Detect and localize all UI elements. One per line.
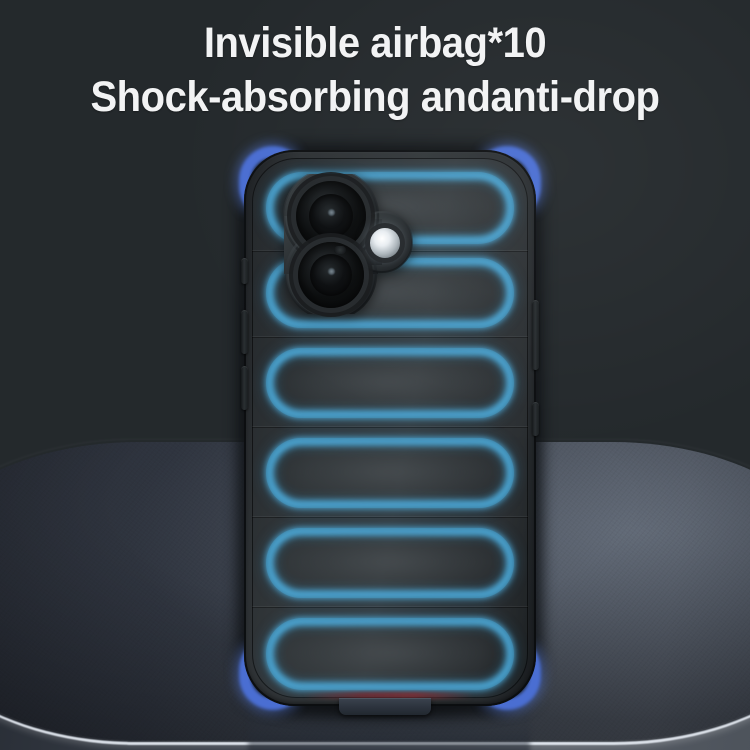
button-left-silent [241, 258, 248, 284]
button-left-volume-down [241, 366, 248, 410]
case-rib-5 [252, 606, 528, 607]
airbag-strip-5 [266, 528, 514, 598]
case-rib-2 [252, 336, 528, 337]
camera-flash [370, 228, 400, 258]
bottom-port-cutout [339, 698, 431, 715]
camera-lens-upper [296, 181, 366, 251]
button-right-camera-control [532, 402, 539, 436]
case-rib-3 [252, 426, 528, 427]
button-left-volume-up [241, 310, 248, 354]
product-image-scene: Invisible airbag*10 Shock-absorbing anda… [0, 0, 750, 750]
camera-microphone [334, 246, 346, 254]
airbag-strip-3 [266, 348, 514, 418]
camera-lens-lower [298, 242, 364, 308]
headline-line-2: Shock-absorbing andanti-drop [26, 70, 724, 124]
camera-module [270, 174, 420, 314]
phone-case [244, 150, 536, 706]
headline-line-1: Invisible airbag*10 [26, 16, 724, 70]
airbag-strip-4 [266, 438, 514, 508]
case-shell-inner [252, 158, 528, 698]
headline-block: Invisible airbag*10 Shock-absorbing anda… [0, 16, 750, 124]
airbag-strip-6 [266, 618, 514, 690]
case-shell [244, 150, 536, 706]
button-right-power [532, 300, 539, 370]
case-rib-4 [252, 516, 528, 517]
